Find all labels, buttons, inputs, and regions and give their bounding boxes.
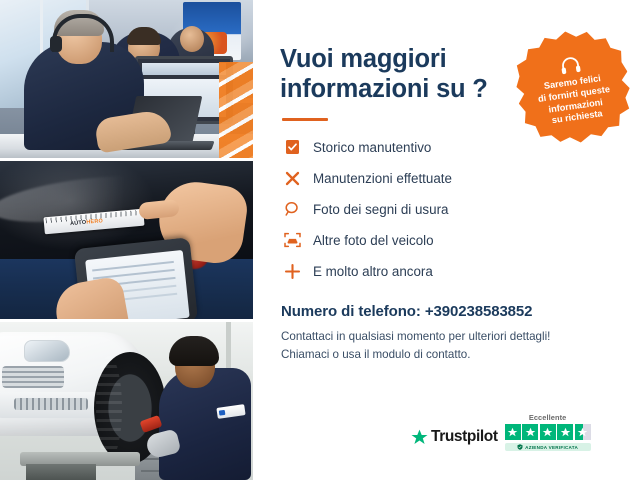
list-item-label: Storico manutentivo	[313, 140, 431, 155]
list-item: E molto altro ancora	[280, 257, 614, 285]
star-filled	[557, 424, 573, 440]
list-item-label: Altre foto del veicolo	[313, 233, 434, 248]
plus-icon	[280, 263, 304, 280]
car-grille	[2, 366, 64, 388]
photo-column: AUTOHERO	[0, 0, 253, 480]
list-item-label: E molto altro ancora	[313, 264, 433, 279]
trustpilot-brand: Trustpilot	[411, 428, 498, 451]
list-item: Manutenzioni effettuate	[280, 164, 614, 192]
headline-line-1: Vuoi maggiori	[280, 45, 446, 73]
badge-content: Saremo felici di fornirti queste informa…	[510, 24, 636, 150]
wrench-cross-icon	[280, 170, 304, 187]
star-rating	[505, 424, 591, 440]
trustpilot-star-icon	[411, 429, 428, 446]
contact-note-line-2: Chiamaci o usa il modulo di contatto.	[281, 346, 614, 364]
badge-text: Saremo felici di fornirti queste informa…	[536, 72, 614, 128]
logo-hero-text: HERO	[86, 218, 103, 225]
phone-number[interactable]: +390238583852	[425, 303, 533, 320]
lift-post	[26, 464, 96, 480]
shield-check-icon	[517, 444, 523, 450]
list-item: Altre foto del veicolo	[280, 226, 614, 254]
rating-label: Eccellente	[529, 413, 567, 422]
tyre-tread	[96, 356, 122, 460]
agent-main-headset-cup	[50, 36, 62, 52]
star-filled	[540, 424, 556, 440]
list-item: Foto dei segni di usura	[280, 195, 614, 223]
technician-hair	[169, 336, 219, 366]
verified-company-badge: AZIENDA VERIFICATA	[505, 443, 591, 451]
verified-company-label: AZIENDA VERIFICATA	[525, 445, 578, 450]
car-headlight	[24, 340, 70, 362]
star-half	[575, 424, 591, 440]
magnifier-icon	[280, 201, 304, 217]
photo-scratch-inspection: AUTOHERO	[0, 161, 253, 319]
list-item-label: Foto dei segni di usura	[313, 202, 448, 217]
photo-wheel-inspection	[0, 322, 253, 480]
car-frame-icon	[280, 232, 304, 248]
contact-note-line-1: Contattaci in qualsiasi momento per ulte…	[281, 328, 614, 346]
headset-icon	[558, 55, 581, 77]
list-item-label: Manutenzioni effettuate	[313, 171, 452, 186]
accent-divider	[282, 118, 328, 121]
phone-label: Numero di telefono:	[281, 303, 421, 320]
info-panel: Vuoi maggiori informazioni su ? Storico …	[253, 0, 640, 480]
autohero-info-banner: AUTOHERO	[0, 0, 640, 480]
phone-number-line: Numero di telefono: +390238583852	[281, 303, 614, 320]
car-lower-grille	[14, 398, 88, 410]
page-title: Vuoi maggiori informazioni su ?	[280, 44, 510, 104]
trustpilot-score: Eccellente AZIENDA VERIFICATA	[505, 413, 591, 451]
star-filled	[505, 424, 521, 440]
checklist-icon	[280, 139, 304, 155]
trustpilot-wordmark: Trustpilot	[431, 428, 498, 446]
star-filled	[522, 424, 538, 440]
headline-line-2: informazioni su ?	[280, 75, 488, 103]
agent-two-hair	[127, 27, 161, 45]
photo-call-centre	[0, 0, 253, 158]
orange-signage	[219, 62, 253, 158]
status-badge: Saremo felici di fornirti queste informa…	[510, 24, 636, 150]
trustpilot-rating[interactable]: Trustpilot Eccellente	[411, 413, 591, 451]
agent-three-head	[180, 26, 204, 52]
logo-auto-text: AUTO	[70, 220, 87, 227]
feature-list: Storico manutentivo Manutenzioni effettu…	[280, 133, 614, 285]
contact-note: Contattaci in qualsiasi momento per ulte…	[281, 328, 614, 364]
